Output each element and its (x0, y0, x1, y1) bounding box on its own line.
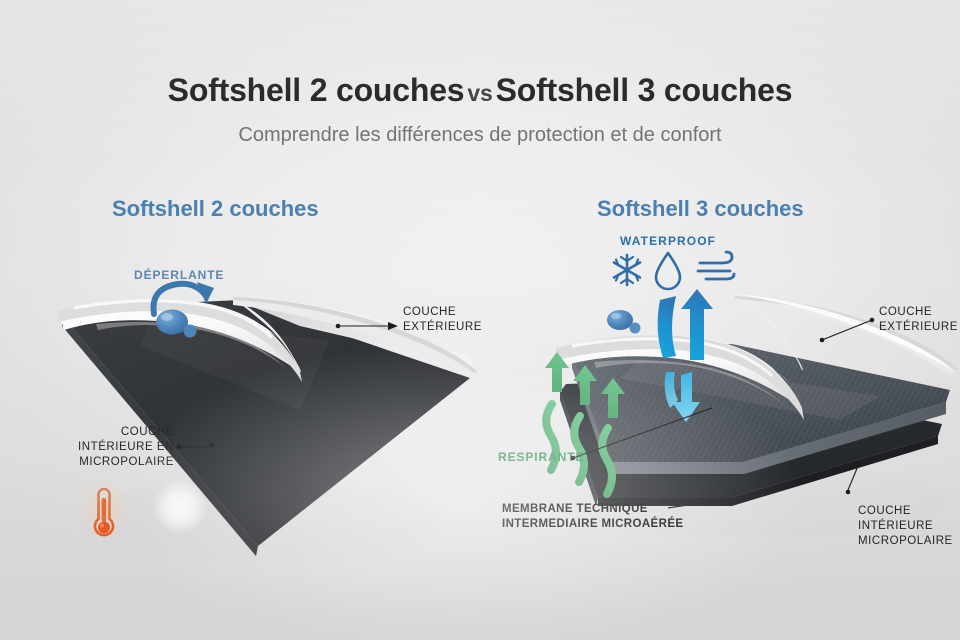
infographic-canvas: Softshell 2 couchesvsSoftshell 3 couches… (0, 0, 960, 640)
right-leader-lines (0, 0, 960, 640)
